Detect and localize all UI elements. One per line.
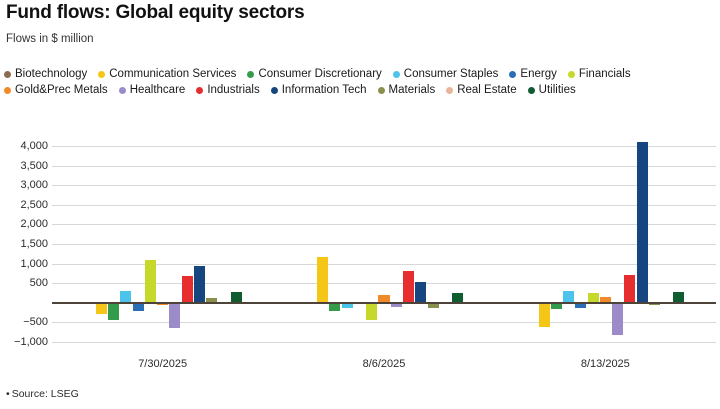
- bar[interactable]: [96, 303, 107, 314]
- y-axis-tick-label: 3,000: [20, 179, 48, 191]
- bar[interactable]: [169, 303, 180, 328]
- bar[interactable]: [415, 282, 426, 303]
- legend-item-label: Communication Services: [109, 68, 236, 80]
- legend-swatch-icon: [196, 87, 203, 94]
- legend-item[interactable]: Healthcare: [119, 84, 186, 96]
- legend-swatch-icon: [4, 71, 11, 78]
- legend-item[interactable]: Real Estate: [446, 84, 516, 96]
- legend-swatch-icon: [378, 87, 385, 94]
- legend-item[interactable]: Consumer Discretionary: [247, 68, 381, 80]
- legend-swatch-icon: [446, 87, 453, 94]
- bar[interactable]: [145, 260, 156, 303]
- bullet-icon: •: [6, 388, 10, 400]
- legend-item[interactable]: Materials: [378, 84, 436, 96]
- chart-legend: BiotechnologyCommunication ServicesConsu…: [4, 66, 718, 98]
- y-axis-tick-label: 1,000: [20, 258, 48, 270]
- legend-item-label: Information Tech: [282, 84, 367, 96]
- x-axis-tick-label: 8/13/2025: [581, 358, 630, 370]
- y-axis-tick-label: 2,000: [20, 218, 48, 230]
- bar[interactable]: [366, 303, 377, 321]
- legend-item[interactable]: Industrials: [196, 84, 259, 96]
- source-text: Source: LSEG: [12, 388, 79, 400]
- legend-row-bottom: Gold&Prec MetalsHealthcareIndustrialsInf…: [4, 82, 718, 98]
- y-axis-tick-label: −1,000: [14, 336, 48, 348]
- legend-item-label: Biotechnology: [15, 68, 87, 80]
- y-axis-tick-label: 2,500: [20, 199, 48, 211]
- bar[interactable]: [108, 303, 119, 320]
- x-axis-tick-label: 7/30/2025: [138, 358, 187, 370]
- legend-item[interactable]: Information Tech: [271, 84, 367, 96]
- legend-row-top: BiotechnologyCommunication ServicesConsu…: [4, 66, 718, 82]
- legend-swatch-icon: [247, 71, 254, 78]
- y-axis-tick-label: −500: [23, 316, 48, 328]
- legend-item-label: Gold&Prec Metals: [15, 84, 108, 96]
- zero-axis-line: [52, 302, 716, 304]
- chart-subtitle: Flows in $ million: [6, 33, 94, 45]
- y-axis-tick-label: 500: [30, 277, 48, 289]
- legend-item[interactable]: Communication Services: [98, 68, 236, 80]
- legend-swatch-icon: [271, 87, 278, 94]
- legend-item-label: Consumer Staples: [404, 68, 499, 80]
- legend-item-label: Financials: [579, 68, 631, 80]
- legend-swatch-icon: [98, 71, 105, 78]
- grid-area: [52, 118, 716, 358]
- legend-swatch-icon: [4, 87, 11, 94]
- legend-item[interactable]: Utilities: [528, 84, 576, 96]
- x-axis-labels: 7/30/20258/6/20258/13/2025: [52, 358, 716, 378]
- chart-title: Fund flows: Global equity sectors: [6, 2, 305, 24]
- legend-item[interactable]: Financials: [568, 68, 631, 80]
- legend-swatch-icon: [528, 87, 535, 94]
- legend-swatch-icon: [393, 71, 400, 78]
- legend-item-label: Industrials: [207, 84, 259, 96]
- legend-swatch-icon: [119, 87, 126, 94]
- legend-item[interactable]: Consumer Staples: [393, 68, 499, 80]
- source-note: •Source: LSEG: [6, 388, 79, 400]
- legend-item-label: Materials: [389, 84, 436, 96]
- bar[interactable]: [133, 303, 144, 311]
- bar[interactable]: [194, 266, 205, 303]
- legend-item-label: Utilities: [539, 84, 576, 96]
- y-axis-tick-label: 4,000: [20, 140, 48, 152]
- legend-item[interactable]: Gold&Prec Metals: [4, 84, 108, 96]
- x-axis-tick-label: 8/6/2025: [363, 358, 406, 370]
- bar[interactable]: [329, 303, 340, 311]
- bar[interactable]: [317, 257, 328, 303]
- bar[interactable]: [539, 303, 550, 327]
- legend-item-label: Energy: [520, 68, 556, 80]
- legend-item-label: Healthcare: [130, 84, 186, 96]
- plot-area: −1,000−5005001,0001,5002,0002,5003,0003,…: [0, 118, 720, 358]
- y-axis-tick-label: 3,500: [20, 160, 48, 172]
- legend-swatch-icon: [568, 71, 575, 78]
- legend-item-label: Consumer Discretionary: [258, 68, 381, 80]
- bar[interactable]: [637, 142, 648, 303]
- bar[interactable]: [403, 271, 414, 303]
- legend-swatch-icon: [509, 71, 516, 78]
- y-axis-labels: −1,000−5005001,0001,5002,0002,5003,0003,…: [0, 118, 48, 358]
- bar[interactable]: [182, 276, 193, 303]
- legend-item[interactable]: Biotechnology: [4, 68, 87, 80]
- legend-item[interactable]: Energy: [509, 68, 556, 80]
- bars-layer: [52, 118, 716, 358]
- y-axis-tick-label: 1,500: [20, 238, 48, 250]
- chart-container: Fund flows: Global equity sectors Flows …: [0, 0, 720, 409]
- legend-item-label: Real Estate: [457, 84, 516, 96]
- bar[interactable]: [612, 303, 623, 335]
- bar[interactable]: [624, 275, 635, 303]
